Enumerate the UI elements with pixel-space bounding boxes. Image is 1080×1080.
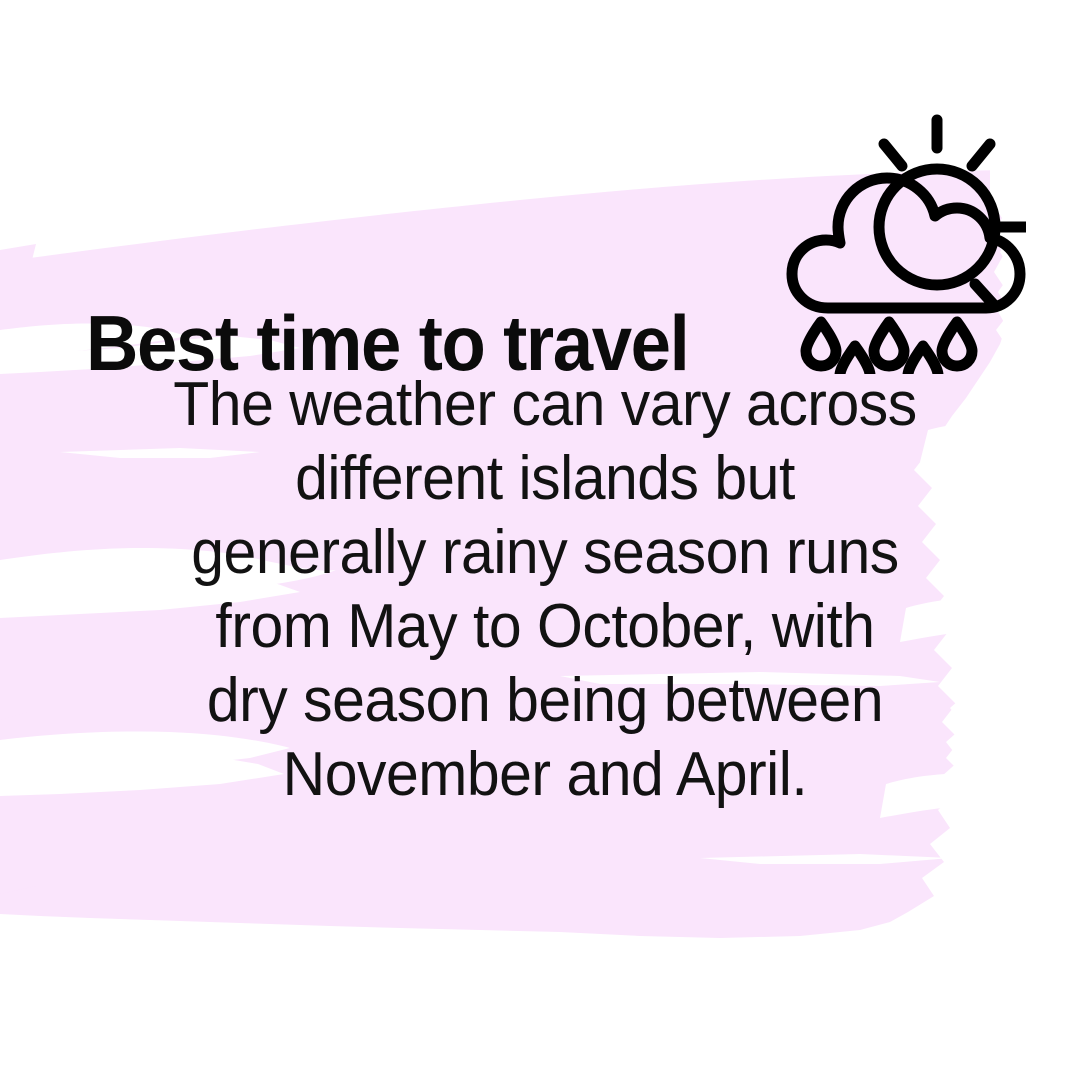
body-paragraph: The weather can vary across different is… [132, 368, 959, 812]
raindrop-icon [840, 346, 870, 374]
raindrop-icon [942, 322, 972, 366]
body-line: November and April. [132, 738, 959, 812]
sun-ray-upper-right-icon [972, 144, 990, 166]
slide-canvas: Best time to travel The weather can vary… [0, 0, 1080, 1080]
raindrop-icon [908, 346, 938, 374]
body-line: The weather can vary across [132, 368, 959, 442]
body-line: generally rainy season runs [132, 516, 959, 590]
body-line: dry season being between [132, 664, 959, 738]
sun-ray-upper-left-icon [884, 144, 902, 166]
body-line: different islands but [132, 442, 959, 516]
body-line: from May to October, with [132, 590, 959, 664]
sun-disc-icon [879, 169, 995, 285]
sun-behind-rain-cloud-icon [776, 112, 1026, 374]
raindrop-icon [806, 322, 836, 366]
raindrop-icon [874, 322, 904, 366]
sun-ray-lower-right-icon [975, 284, 994, 305]
